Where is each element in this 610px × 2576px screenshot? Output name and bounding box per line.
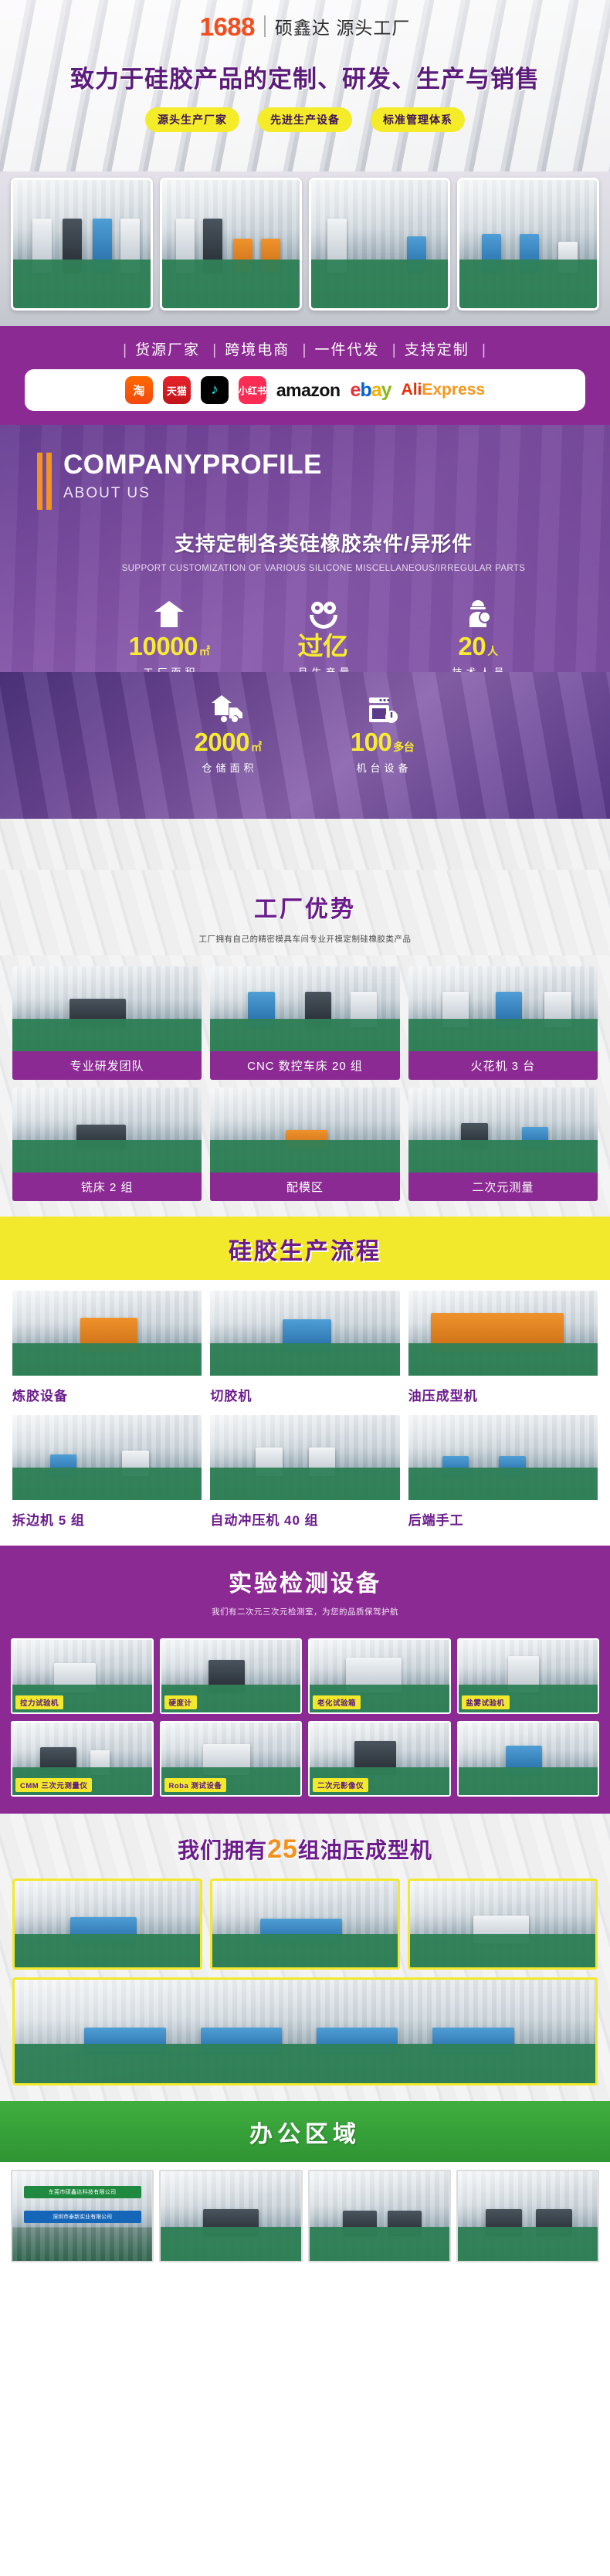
company-sign-line-2: 深圳市泰新实业有限公司: [24, 2211, 141, 2223]
advantage-photo: [210, 1088, 399, 1173]
platform-band: |货源厂家 |跨境电商 |一件代发 |支持定制 | 淘 天猫 ♪ 小红书 ama…: [0, 326, 610, 425]
aliexpress-logo: AliExpress: [402, 381, 486, 399]
production-process-grid: 炼胶设备 切胶机 油压成型机 拆边机 5 组 自动冲压机 40 组 后: [0, 1280, 610, 1546]
lab-equipment-grid: 拉力试验机 硬度计 老化试验箱 盐雾试验机 CMM 三次元测量仪 Ro: [0, 1628, 610, 1814]
stats-row-2: 2000㎡ 仓储面积 100多台 机台设备: [0, 672, 610, 775]
company-profile-hero: COMPANYPROFILE ABOUT US 支持定制各类硅橡胶杂件/异形件 …: [0, 425, 610, 672]
lab-tag: Roba 测试设备: [164, 1778, 227, 1792]
lab-card[interactable]: 拉力试验机: [11, 1638, 154, 1714]
molding-photo-wide: [12, 1977, 598, 2086]
molding-photo-2: [210, 1879, 400, 1970]
production-process-row-2: 拆边机 5 组 自动冲压机 40 组 后端手工: [0, 1407, 610, 1532]
company-profile-subtitle-cn: SUPPORT CUSTOMIZATION OF VARIOUS SILICON…: [37, 564, 610, 573]
diagonal-divider-1: [0, 819, 610, 870]
advantage-photo: [408, 1088, 598, 1173]
lab-card[interactable]: Roba 测试设备: [160, 1721, 303, 1797]
stats-row-1: 10000㎡ 工厂面积 过亿 月生产量 20人 技术人员: [37, 593, 610, 672]
advantage-card[interactable]: CNC 数控车床 20 组: [210, 966, 399, 1080]
factory-advantage-title: 工厂优势: [0, 890, 610, 924]
sep-1: |: [212, 342, 218, 358]
company-profile-stats-2: 2000㎡ 仓储面积 100多台 机台设备: [0, 672, 610, 819]
machine-icon: [305, 689, 459, 725]
process-caption: 切胶机: [210, 1376, 399, 1407]
stat-value: 2000㎡: [151, 729, 305, 755]
process-caption: 拆边机 5 组: [12, 1500, 202, 1532]
factory-advantage-header: 工厂优势 工厂拥有自己的精密模具车间专业开模定制硅橡胶类产品: [0, 870, 610, 955]
stat-factory-area: 10000㎡ 工厂面积: [92, 593, 246, 672]
advantage-caption: 配模区: [210, 1173, 399, 1201]
platform-logo-bar: 淘 天猫 ♪ 小红书 amazon ebay AliExpress: [25, 369, 585, 411]
amazon-logo: amazon: [276, 380, 341, 401]
factory-advantage-desc: 工厂拥有自己的精密模具车间专业开模定制硅橡胶类产品: [0, 933, 610, 945]
lab-tag: CMM 三次元测量仪: [15, 1778, 92, 1792]
service-2: 跨境电商: [225, 342, 290, 358]
service-4: 支持定制: [405, 342, 469, 358]
service-list: |货源厂家 |跨境电商 |一件代发 |支持定制 |: [0, 338, 610, 359]
office-photo-signboard: 东莞市硕鑫达科技有限公司 深圳市泰新实业有限公司: [11, 2170, 154, 2262]
molding-photo-3: [408, 1879, 598, 1970]
lab-tag: 硬度计: [164, 1695, 197, 1709]
process-card[interactable]: 油压成型机: [408, 1291, 598, 1407]
lab-photo: [457, 1721, 600, 1797]
advantage-photo: [210, 966, 399, 1051]
advantage-card[interactable]: 铣床 2 组: [12, 1088, 202, 1201]
advantage-caption: 铣床 2 组: [12, 1173, 202, 1201]
molding-machines-row: [0, 1865, 610, 1970]
worker-icon: [401, 593, 555, 629]
stat-value: 20人: [401, 633, 555, 659]
molding-machines-wide: [0, 1970, 610, 2101]
advantage-card[interactable]: 专业研发团队: [12, 966, 202, 1080]
sep-3: |: [392, 342, 398, 358]
process-photo: [210, 1415, 399, 1500]
title-suffix: 组油压成型机: [298, 1838, 432, 1862]
stat-label: 机台设备: [305, 760, 459, 775]
office-photo-4: [456, 2170, 599, 2262]
stat-label: 月生产量: [246, 664, 401, 672]
stat-value: 过亿: [246, 633, 401, 659]
sep-2: |: [303, 342, 308, 358]
molding-photo-1: [12, 1879, 202, 1970]
brand-name: 硕鑫达 源头工厂: [275, 13, 410, 39]
process-card[interactable]: 拆边机 5 组: [12, 1415, 202, 1532]
lab-card[interactable]: [457, 1721, 600, 1797]
lab-equipment-desc: 我们有二次元三次元检测室，为您的品质保驾护航: [0, 1606, 610, 1617]
gears-icon: [246, 593, 401, 629]
stat-value: 10000㎡: [92, 633, 246, 659]
douyin-logo: ♪: [201, 376, 229, 404]
title-number: 25: [267, 1834, 298, 1864]
process-card[interactable]: 自动冲压机 40 组: [210, 1415, 399, 1532]
hero-tag-2: 先进生产设备: [258, 107, 352, 132]
stat-warehouse-area: 2000㎡ 仓储面积: [151, 689, 305, 775]
advantage-photo: [12, 1088, 202, 1173]
factory-photo-strip: [0, 171, 610, 326]
ebay-logo: ebay: [351, 379, 391, 402]
production-process-header: 硅胶生产流程: [0, 1217, 610, 1280]
hero-tag-3: 标准管理体系: [371, 107, 465, 132]
advantage-card[interactable]: 火花机 3 台: [408, 966, 598, 1080]
brand-lockup: 1688 硕鑫达 源头工厂: [200, 13, 411, 39]
process-caption: 炼胶设备: [12, 1376, 202, 1407]
advantage-card[interactable]: 配模区: [210, 1088, 399, 1201]
sep-0: |: [123, 342, 128, 358]
company-profile-title-en: COMPANYPROFILE: [63, 451, 610, 480]
lab-equipment-title: 实验检测设备: [0, 1564, 610, 1598]
stat-label: 工厂面积: [92, 664, 246, 672]
warehouse-truck-icon: [151, 689, 305, 725]
advantage-card[interactable]: 二次元测量: [408, 1088, 598, 1201]
stat-value: 100多台: [305, 729, 459, 755]
office-photo-3: [308, 2170, 451, 2262]
hero-headline: 致力于硅胶产品的定制、研发、生产与销售: [0, 59, 610, 94]
molding-machines-section: 我们拥有25组油压成型机: [0, 1814, 610, 2101]
lab-card[interactable]: CMM 三次元测量仪: [11, 1721, 154, 1797]
factory-advantage-row-1: 专业研发团队 CNC 数控车床 20 组 火花机 3 台: [0, 955, 610, 1080]
factory-icon: [92, 593, 246, 629]
stat-technicians: 20人 技术人员: [401, 593, 555, 672]
title-prefix: 我们拥有: [178, 1838, 267, 1862]
hero-tag-1: 源头生产厂家: [145, 107, 239, 132]
factory-photo-2: [160, 178, 302, 311]
advantage-photo: [408, 966, 598, 1051]
product-detail-page: 1688 硕鑫达 源头工厂 致力于硅胶产品的定制、研发、生产与销售 源头生产厂家…: [0, 0, 610, 2576]
lab-tag: 盐雾试验机: [462, 1695, 510, 1709]
process-photo: [12, 1415, 202, 1500]
hero-tag-list: 源头生产厂家 先进生产设备 标准管理体系: [0, 107, 610, 132]
process-caption: 后端手工: [408, 1500, 598, 1532]
accent-bars-icon: [37, 453, 52, 510]
lab-row-1: 拉力试验机 硬度计 老化试验箱 盐雾试验机: [11, 1638, 599, 1714]
process-photo: [12, 1291, 202, 1376]
factory-advantage-grid: 专业研发团队 CNC 数控车床 20 组 火花机 3 台 铣床 2 组 配模区: [0, 955, 610, 1217]
sep-4: |: [482, 342, 487, 358]
process-photo: [210, 1291, 399, 1376]
office-photo-2: [159, 2170, 302, 2262]
office-area-grid: 东莞市硕鑫达科技有限公司 深圳市泰新实业有限公司: [0, 2162, 610, 2275]
advantage-caption: 火花机 3 台: [408, 1051, 598, 1080]
factory-advantage-row-2: 铣床 2 组 配模区 二次元测量: [0, 1080, 610, 1201]
advantage-caption: CNC 数控车床 20 组: [210, 1051, 399, 1080]
advantage-photo: [12, 966, 202, 1051]
tmall-logo: 天猫: [163, 376, 191, 404]
lab-row-2: CMM 三次元测量仪 Roba 测试设备 二次元影像仪: [11, 1721, 599, 1797]
service-3: 一件代发: [314, 342, 379, 358]
molding-machines-title: 我们拥有25组油压成型机: [0, 1834, 610, 1865]
office-area-title: 办公区域: [0, 2115, 610, 2149]
lab-card[interactable]: 硬度计: [160, 1638, 303, 1714]
production-process-row-1: 炼胶设备 切胶机 油压成型机: [0, 1280, 610, 1407]
lab-equipment-header: 实验检测设备 我们有二次元三次元检测室，为您的品质保驾护航: [0, 1546, 610, 1628]
lab-tag: 拉力试验机: [15, 1695, 63, 1709]
office-area-header: 办公区域: [0, 2101, 610, 2162]
stat-label: 仓储面积: [151, 760, 305, 775]
stat-machines: 100多台 机台设备: [305, 689, 459, 775]
advantage-caption: 二次元测量: [408, 1173, 598, 1201]
process-photo: [408, 1291, 598, 1376]
company-profile-title-cn: 支持定制各类硅橡胶杂件/异形件: [37, 528, 610, 557]
process-caption: 油压成型机: [408, 1376, 598, 1407]
production-process-title: 硅胶生产流程: [0, 1232, 610, 1266]
lab-card[interactable]: 盐雾试验机: [457, 1638, 600, 1714]
process-card[interactable]: 后端手工: [408, 1415, 598, 1532]
lab-card[interactable]: 老化试验箱: [308, 1638, 451, 1714]
company-sign-line-1: 东莞市硕鑫达科技有限公司: [24, 2186, 141, 2198]
advantage-caption: 专业研发团队: [12, 1051, 202, 1080]
factory-photo-3: [309, 178, 451, 311]
company-profile-subtitle-en: ABOUT US: [63, 485, 610, 502]
process-card[interactable]: 炼胶设备: [12, 1291, 202, 1407]
lab-card[interactable]: 二次元影像仪: [308, 1721, 451, 1797]
factory-photo-4: [457, 178, 599, 311]
taobao-logo: 淘: [125, 376, 153, 404]
stat-monthly-output: 过亿 月生产量: [246, 593, 401, 672]
xiaohongshu-logo: 小红书: [239, 376, 266, 404]
service-1: 货源厂家: [135, 342, 200, 358]
lab-tag: 二次元影像仪: [313, 1778, 368, 1792]
lab-tag: 老化试验箱: [313, 1695, 361, 1709]
process-photo: [408, 1415, 598, 1500]
logo-1688: 1688: [200, 14, 255, 39]
process-caption: 自动冲压机 40 组: [210, 1500, 399, 1532]
brand-divider: [264, 15, 266, 37]
factory-photo-1: [11, 178, 153, 311]
stat-label: 技术人员: [401, 664, 555, 672]
hero-banner: 1688 硕鑫达 源头工厂 致力于硅胶产品的定制、研发、生产与销售 源头生产厂家…: [0, 0, 610, 171]
process-card[interactable]: 切胶机: [210, 1291, 399, 1407]
